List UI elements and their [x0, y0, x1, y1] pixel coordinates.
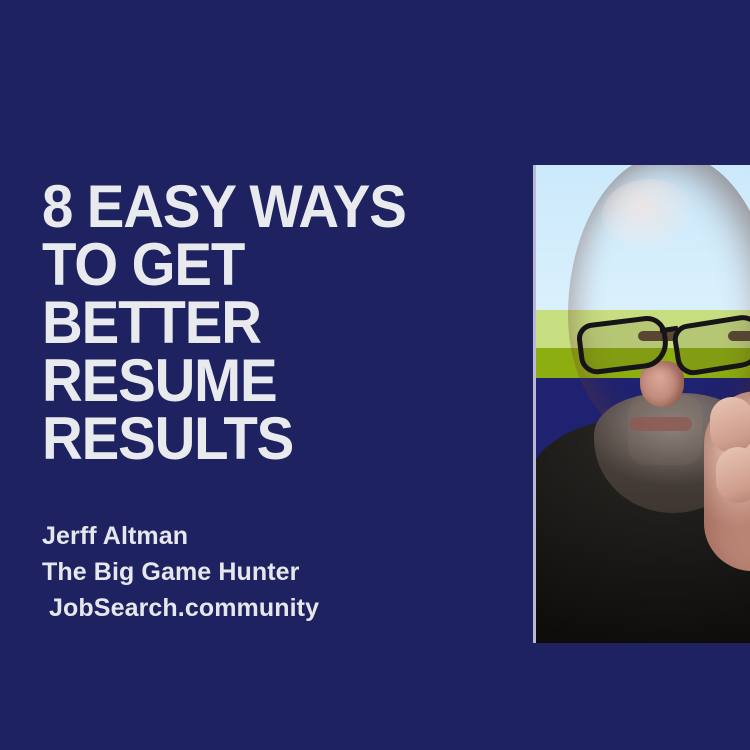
portrait-finger-1 [710, 397, 750, 453]
title-line-5: RESULTS [42, 410, 484, 468]
byline-presenter-name: Jerff Altman [42, 518, 482, 554]
title-line-1: 8 EASY WAYS [42, 178, 484, 236]
title-line-2: TO GET [42, 236, 484, 294]
presenter-portrait [536, 165, 750, 643]
byline-tagline: The Big Game Hunter [42, 554, 482, 590]
portrait-head-highlight [602, 179, 698, 253]
glasses-icon [576, 315, 750, 367]
presenter-photo [533, 165, 750, 643]
promo-slide: 8 EASY WAYS TO GET BETTER RESUME RESULTS… [0, 0, 750, 750]
portrait-mouth [630, 417, 692, 431]
byline-block: Jerff Altman The Big Game Hunter JobSear… [42, 518, 482, 626]
portrait-finger-2 [716, 447, 750, 503]
glasses-lens-left [575, 314, 671, 377]
glasses-lens-right [670, 312, 750, 377]
byline-website[interactable]: JobSearch.community [42, 590, 482, 626]
title-line-4: RESUME [42, 352, 484, 410]
title-line-3: BETTER [42, 294, 484, 352]
title-block: 8 EASY WAYS TO GET BETTER RESUME RESULTS [42, 178, 512, 468]
